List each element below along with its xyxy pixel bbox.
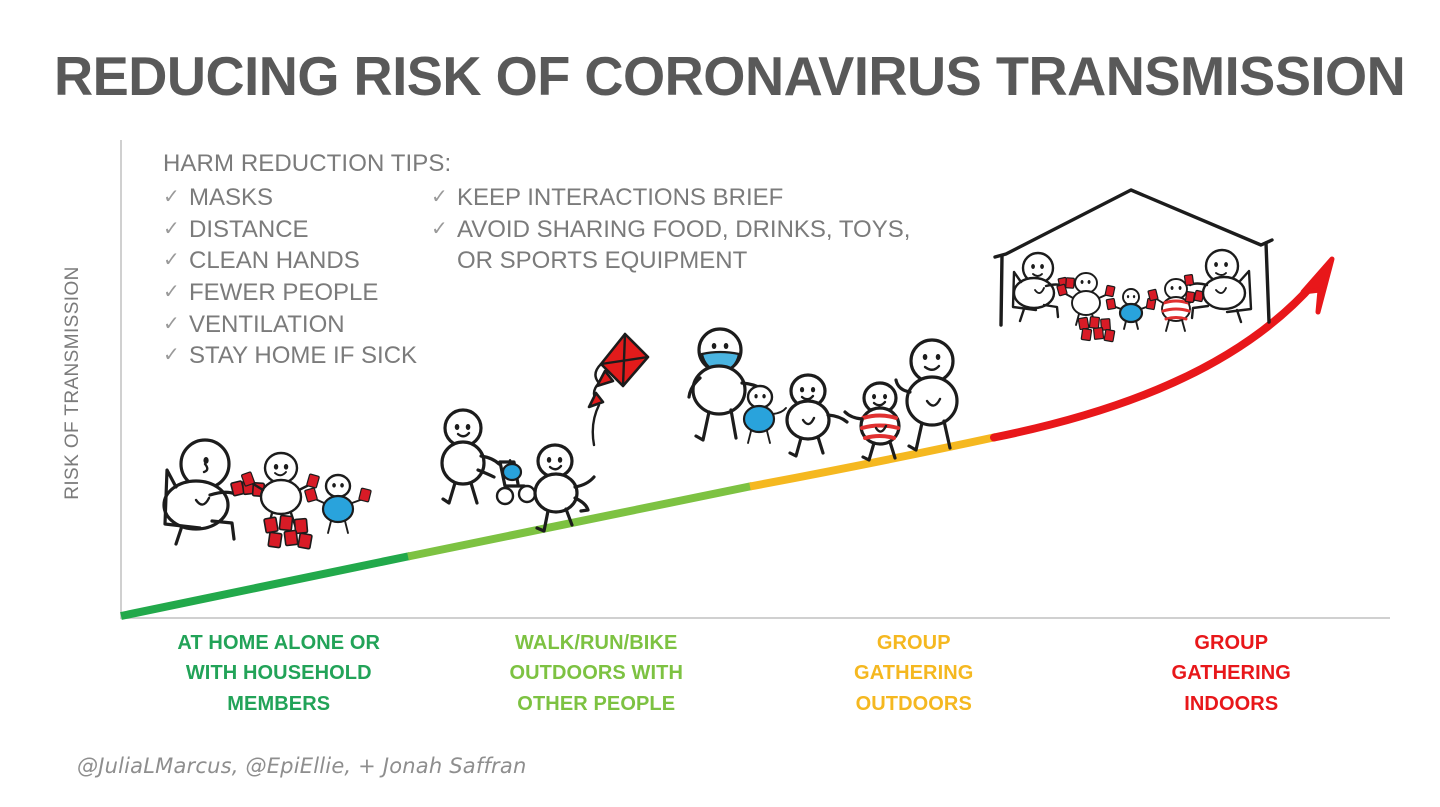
category-label-group-outdoors: GROUP GATHERING OUTDOORS xyxy=(755,628,1073,719)
house-outline xyxy=(995,190,1272,325)
indoor-toddler-figure xyxy=(1106,289,1156,329)
risk-curve-segment-light-green xyxy=(408,486,752,557)
attribution-credit: @JuliaLMarcus, @EpiEllie, + Jonah Saffra… xyxy=(77,754,526,778)
check-icon: ✓ xyxy=(163,277,189,308)
harm-reduction-tips-block: HARM REDUCTION TIPS: ✓ MASKS ✓ DISTANCE … xyxy=(163,150,1031,372)
at-home-scene xyxy=(164,440,371,549)
category-label-group-indoors: GROUP GATHERING INDOORS xyxy=(1073,628,1391,719)
at-home-card-pile xyxy=(264,515,312,549)
risk-curve-arrowhead xyxy=(1303,259,1332,312)
check-icon: ✓ xyxy=(163,182,189,213)
kite-child-figure xyxy=(535,445,594,531)
tips-column-left: ✓ MASKS ✓ DISTANCE ✓ CLEAN HANDS ✓ FEWER… xyxy=(163,182,431,372)
check-icon: ✓ xyxy=(163,214,189,245)
stroller-adult-figure xyxy=(442,410,499,503)
tip-item-masks: ✓ MASKS xyxy=(163,182,431,214)
at-home-toddler-figure xyxy=(305,475,372,533)
tip-label: KEEP INTERACTIONS BRIEF xyxy=(457,182,783,214)
tip-label: DISTANCE xyxy=(189,214,309,246)
category-label-at-home: AT HOME ALONE OR WITH HOUSEHOLD MEMBERS xyxy=(120,628,438,719)
at-home-adult-figure xyxy=(164,440,264,544)
tip-item-avoid-sharing: ✓ AVOID SHARING FOOD, DRINKS, TOYS, OR S… xyxy=(431,214,1031,277)
tip-label: MASKS xyxy=(189,182,273,214)
check-icon: ✓ xyxy=(163,245,189,276)
y-axis-line xyxy=(120,140,122,618)
tips-heading: HARM REDUCTION TIPS: xyxy=(163,150,1031,178)
category-labels: AT HOME ALONE OR WITH HOUSEHOLD MEMBERS … xyxy=(120,628,1390,719)
outdoor-child-figure xyxy=(787,375,847,456)
check-icon: ✓ xyxy=(163,340,189,371)
playing-cards-adult xyxy=(231,480,265,496)
check-icon: ✓ xyxy=(431,214,457,245)
tip-label: FEWER PEOPLE xyxy=(189,277,378,309)
indoor-child-one-figure xyxy=(1057,273,1115,325)
tips-columns: ✓ MASKS ✓ DISTANCE ✓ CLEAN HANDS ✓ FEWER… xyxy=(163,182,1031,372)
risk-curve-segment-red xyxy=(994,282,1315,438)
indoor-card-pile xyxy=(1078,317,1115,342)
tip-item-fewer-people: ✓ FEWER PEOPLE xyxy=(163,277,431,309)
tip-label: AVOID SHARING FOOD, DRINKS, TOYS, OR SPO… xyxy=(457,214,910,277)
y-axis-label: RISK OF TRANSMISSION xyxy=(62,263,84,503)
check-icon: ✓ xyxy=(163,309,189,340)
category-label-walk-run-bike: WALK/RUN/BIKE OUTDOORS WITH OTHER PEOPLE xyxy=(438,628,756,719)
tip-label: CLEAN HANDS xyxy=(189,245,360,277)
risk-curve-segment-dark-green xyxy=(121,556,410,616)
tip-item-distance: ✓ DISTANCE xyxy=(163,214,431,246)
tip-label: STAY HOME IF SICK xyxy=(189,340,417,372)
indoor-adult-right-figure xyxy=(1184,250,1251,322)
tip-item-keep-interactions-brief: ✓ KEEP INTERACTIONS BRIEF xyxy=(431,182,1031,214)
tip-item-stay-home-if-sick: ✓ STAY HOME IF SICK xyxy=(163,340,431,372)
check-icon: ✓ xyxy=(431,182,457,213)
striped-shirt-child-figure xyxy=(845,383,899,460)
tips-column-right: ✓ KEEP INTERACTIONS BRIEF ✓ AVOID SHARIN… xyxy=(431,182,1031,277)
tip-item-clean-hands: ✓ CLEAN HANDS xyxy=(163,245,431,277)
stroller xyxy=(497,459,535,504)
page-title: REDUCING RISK OF CORONAVIRUS TRANSMISSIO… xyxy=(54,48,1374,106)
tip-label: VENTILATION xyxy=(189,309,345,341)
at-home-child-figure xyxy=(241,453,319,529)
infographic-canvas: REDUCING RISK OF CORONAVIRUS TRANSMISSIO… xyxy=(0,0,1440,807)
x-axis-line xyxy=(120,617,1390,619)
indoor-striped-child-figure xyxy=(1148,279,1204,331)
outdoor-toddler-figure xyxy=(744,386,786,443)
indoor-gathering-scene xyxy=(995,190,1272,342)
tip-item-ventilation: ✓ VENTILATION xyxy=(163,309,431,341)
risk-curve-segment-yellow xyxy=(750,437,996,487)
